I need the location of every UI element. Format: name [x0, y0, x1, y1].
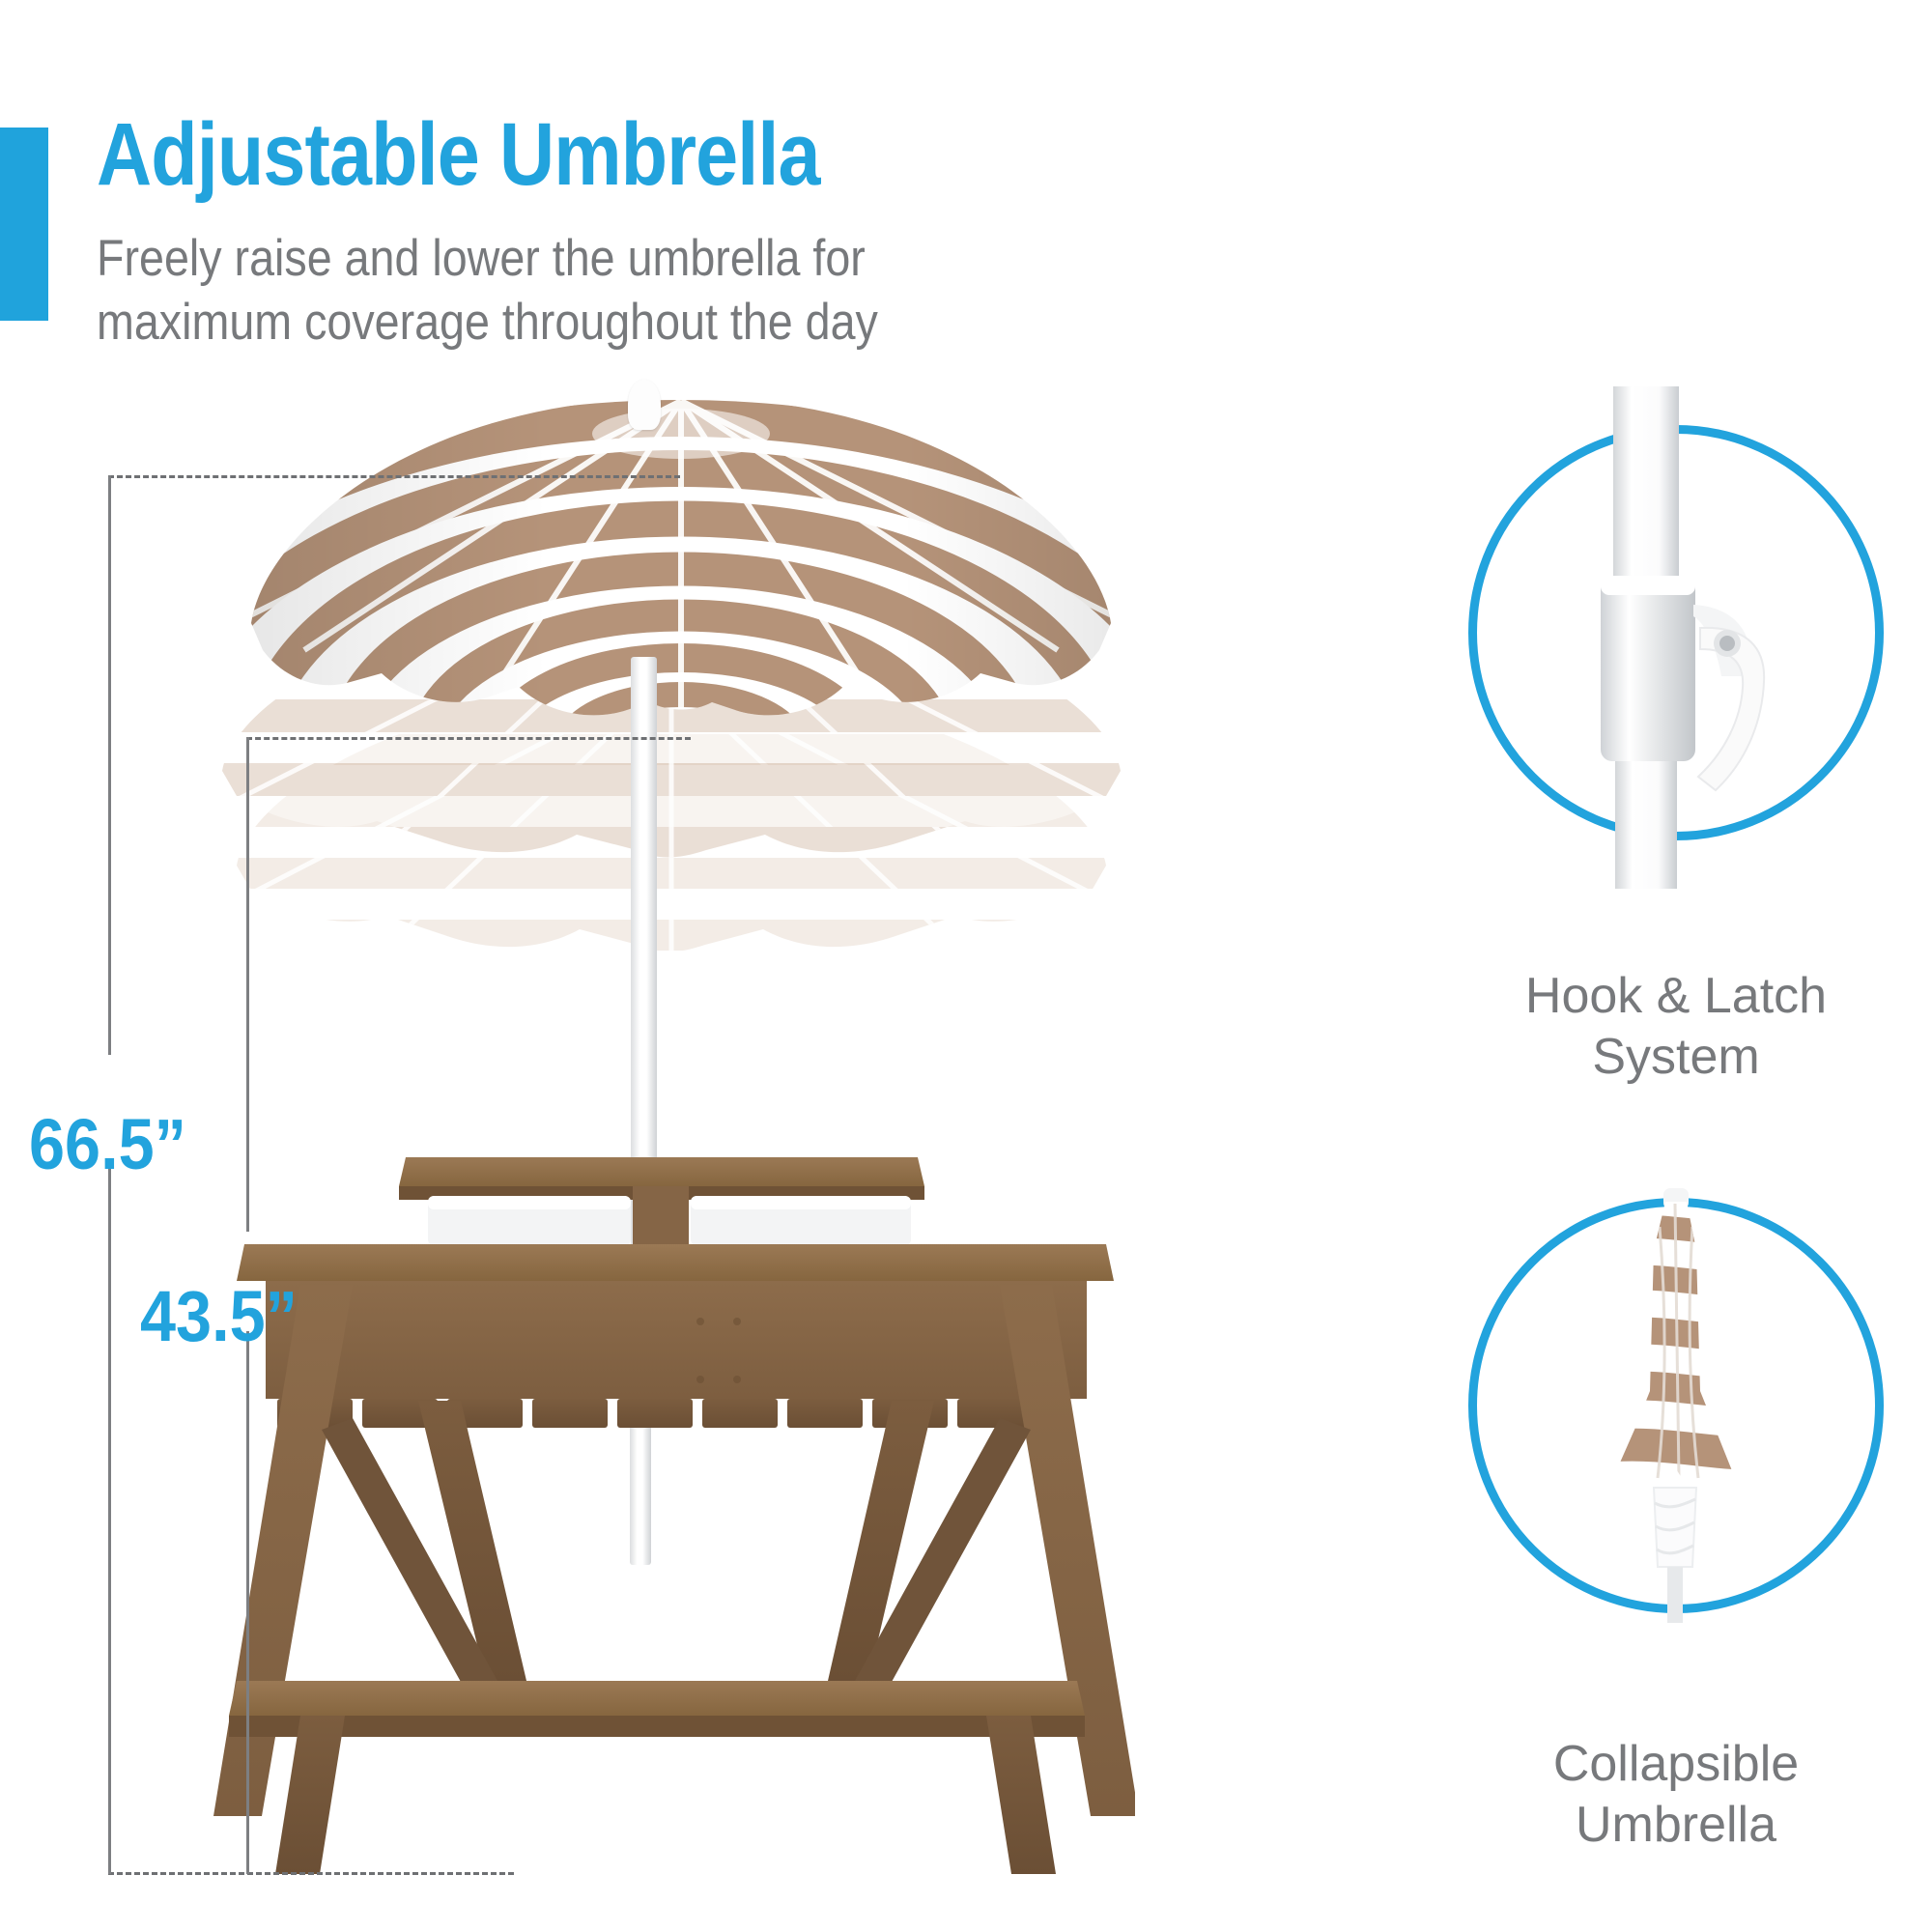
- dimension-label-overall: 66.5”: [29, 1103, 186, 1185]
- callout-label-hook-latch: Hook & Latch System: [1420, 966, 1932, 1089]
- dimension-line-table-upper: [246, 737, 249, 1232]
- dimension-line-overall-upper: [108, 475, 111, 1055]
- folded-umbrella-icon: [1546, 1188, 1806, 1623]
- dimension-line-table-lower: [246, 1331, 249, 1874]
- accent-bar: [0, 128, 48, 321]
- infographic-canvas: Adjustable Umbrella Freely raise and low…: [0, 0, 1932, 1932]
- page-subtitle: Freely raise and lower the umbrella for …: [97, 227, 878, 355]
- callout-label-collapsible: Collapsible Umbrella: [1420, 1734, 1932, 1857]
- umbrella-canopy: [237, 391, 1125, 758]
- dimension-dash-bottom: [108, 1872, 514, 1875]
- picnic-table: [208, 1140, 1135, 1874]
- dimension-label-table: 43.5”: [140, 1275, 298, 1357]
- page-title: Adjustable Umbrella: [97, 104, 820, 206]
- dimension-dash-top: [108, 475, 680, 478]
- umbrella-finial: [628, 380, 661, 430]
- dimension-dash-mid: [246, 737, 691, 740]
- umbrella-pole-latch-icon: [1468, 386, 1884, 889]
- dimension-line-overall-lower: [108, 1159, 111, 1874]
